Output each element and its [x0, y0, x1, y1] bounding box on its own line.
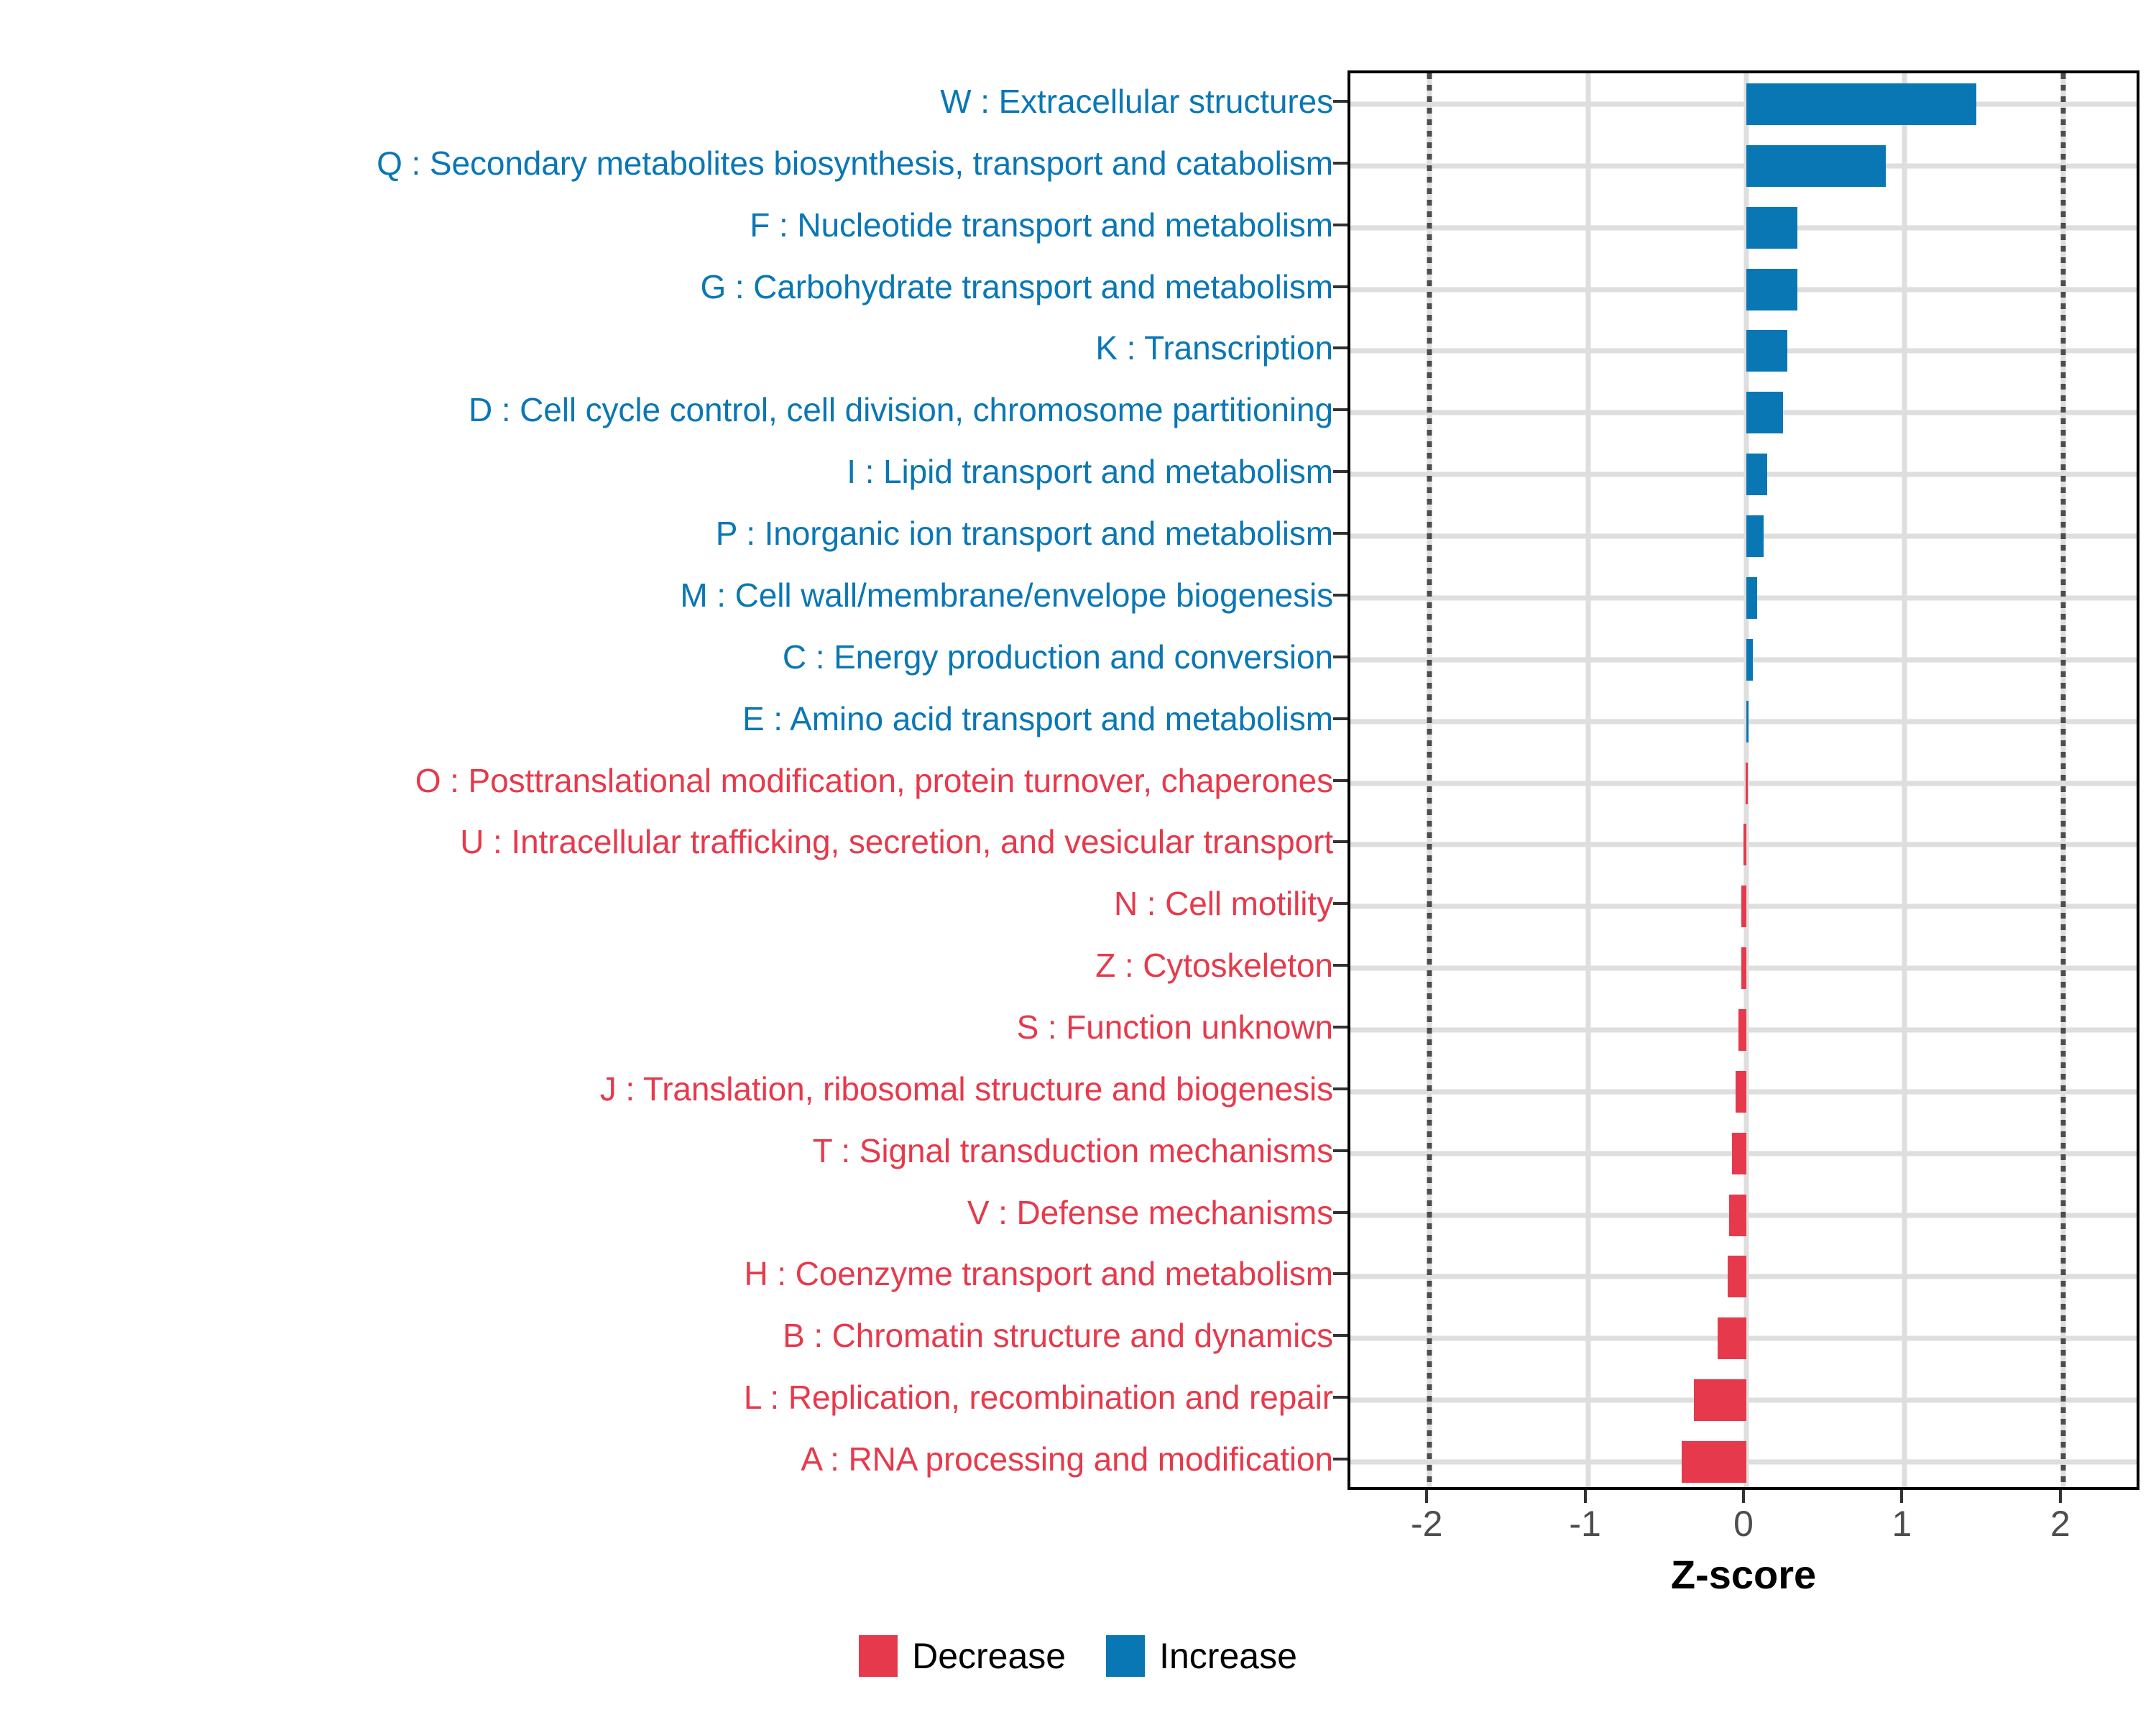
category-label: F : Nucleotide transport and metabolism [0, 208, 1333, 241]
bar [1728, 1256, 1746, 1297]
category-label: P : Inorganic ion transport and metaboli… [0, 517, 1333, 550]
bar [1746, 701, 1749, 742]
horizontal-gridline [1350, 781, 2137, 786]
category-label: C : Energy production and conversion [0, 640, 1333, 673]
bar [1682, 1441, 1746, 1483]
category-label: S : Function unknown [0, 1011, 1333, 1044]
y-axis-tick [1333, 840, 1347, 843]
horizontal-gridline [1350, 287, 2137, 292]
y-axis-tick [1333, 1396, 1347, 1399]
horizontal-gridline [1350, 410, 2137, 415]
bar [1746, 392, 1783, 433]
x-axis-tick-label: -1 [1569, 1506, 1600, 1542]
category-label: A : RNA processing and modification [0, 1443, 1333, 1476]
horizontal-gridline [1350, 101, 2137, 106]
legend-swatch-decrease [859, 1635, 898, 1677]
x-axis-tick [1584, 1490, 1587, 1503]
chart-legend: Decrease Increase [0, 1635, 2156, 1677]
legend-swatch-increase [1106, 1635, 1145, 1677]
dotted-reference-line [2060, 73, 2065, 1487]
bar [1738, 1009, 1746, 1051]
x-axis-tick-label: -2 [1411, 1506, 1442, 1542]
y-axis-tick [1333, 1149, 1347, 1152]
x-axis-tick [1900, 1490, 1903, 1503]
y-axis-tick [1333, 1211, 1347, 1214]
y-axis-tick [1333, 594, 1347, 597]
horizontal-gridline [1350, 225, 2137, 230]
category-label: M : Cell wall/membrane/envelope biogenes… [0, 579, 1333, 612]
legend-label-decrease: Decrease [912, 1638, 1066, 1674]
bar [1743, 824, 1746, 865]
bar [1741, 947, 1746, 989]
horizontal-gridline [1350, 719, 2137, 724]
category-label: N : Cell motility [0, 887, 1333, 920]
category-label: T : Signal transduction mechanisms [0, 1134, 1333, 1167]
horizontal-gridline [1350, 163, 2137, 168]
category-label: H : Coenzyme transport and metabolism [0, 1257, 1333, 1290]
plot-panel [1347, 70, 2139, 1490]
x-axis-title: Z-score [1347, 1551, 2139, 1598]
x-axis-tick-label: 2 [2050, 1506, 2070, 1542]
x-axis-tick [2059, 1490, 2062, 1503]
bar [1741, 885, 1746, 927]
y-axis-tick [1333, 1334, 1347, 1337]
bar [1718, 1317, 1746, 1359]
category-label: U : Intracellular trafficking, secretion… [0, 825, 1333, 858]
category-label: G : Carbohydrate transport and metabolis… [0, 270, 1333, 303]
legend-item-decrease[interactable]: Decrease [859, 1635, 1066, 1677]
bar [1746, 763, 1748, 804]
horizontal-gridline [1350, 534, 2137, 539]
horizontal-gridline [1350, 595, 2137, 600]
y-axis-tick [1333, 1458, 1347, 1460]
horizontal-gridline [1350, 349, 2137, 354]
y-axis-tick [1333, 346, 1347, 349]
y-axis-tick [1333, 902, 1347, 905]
y-axis-tick [1333, 532, 1347, 535]
y-axis-tick [1333, 779, 1347, 782]
bar [1746, 83, 1976, 125]
bar [1746, 269, 1797, 310]
bar [1746, 639, 1753, 681]
bar [1736, 1071, 1746, 1113]
category-label: E : Amino acid transport and metabolism [0, 702, 1333, 735]
bar [1729, 1195, 1746, 1236]
x-axis-tick [1425, 1490, 1428, 1503]
x-axis-tick-label: 0 [1733, 1506, 1754, 1542]
y-axis-tick [1333, 1272, 1347, 1275]
x-axis-tick [1742, 1490, 1745, 1503]
y-axis-tick [1333, 408, 1347, 411]
chart-root: W : Extracellular structuresQ : Secondar… [0, 0, 2156, 1725]
category-label: W : Extracellular structures [0, 85, 1333, 118]
category-label: L : Replication, recombination and repai… [0, 1381, 1333, 1414]
category-label: V : Defense mechanisms [0, 1196, 1333, 1229]
x-axis-tick-label: 1 [1892, 1506, 1912, 1542]
bar [1746, 145, 1886, 187]
category-label: I : Lipid transport and metabolism [0, 455, 1333, 488]
category-label: B : Chromatin structure and dynamics [0, 1319, 1333, 1352]
y-axis-tick [1333, 162, 1347, 165]
y-axis-tick [1333, 100, 1347, 103]
y-axis-tick [1333, 1026, 1347, 1029]
y-axis-tick [1333, 1087, 1347, 1090]
category-label: Z : Cytoskeleton [0, 949, 1333, 982]
y-axis-tick [1333, 655, 1347, 658]
bar [1732, 1133, 1746, 1174]
dotted-reference-line [1427, 73, 1432, 1487]
category-label: D : Cell cycle control, cell division, c… [0, 393, 1333, 426]
category-label: O : Posttranslational modification, prot… [0, 764, 1333, 797]
bar [1746, 515, 1764, 557]
bar [1746, 330, 1787, 372]
bar [1746, 207, 1797, 249]
category-label: J : Translation, ribosomal structure and… [0, 1072, 1333, 1105]
category-label: Q : Secondary metabolites biosynthesis, … [0, 147, 1333, 180]
legend-label-increase: Increase [1159, 1638, 1297, 1674]
legend-item-increase[interactable]: Increase [1106, 1635, 1297, 1677]
y-axis-tick [1333, 717, 1347, 720]
category-label: K : Transcription [0, 331, 1333, 364]
y-axis-tick [1333, 285, 1347, 288]
y-axis-tick [1333, 470, 1347, 473]
horizontal-gridline [1350, 657, 2137, 662]
bar [1694, 1379, 1746, 1421]
bar [1746, 577, 1757, 619]
category-axis-labels: W : Extracellular structuresQ : Secondar… [0, 70, 1333, 1490]
bar [1746, 454, 1767, 495]
y-axis-tick [1333, 964, 1347, 967]
horizontal-gridline [1350, 472, 2137, 477]
y-axis-tick [1333, 224, 1347, 226]
